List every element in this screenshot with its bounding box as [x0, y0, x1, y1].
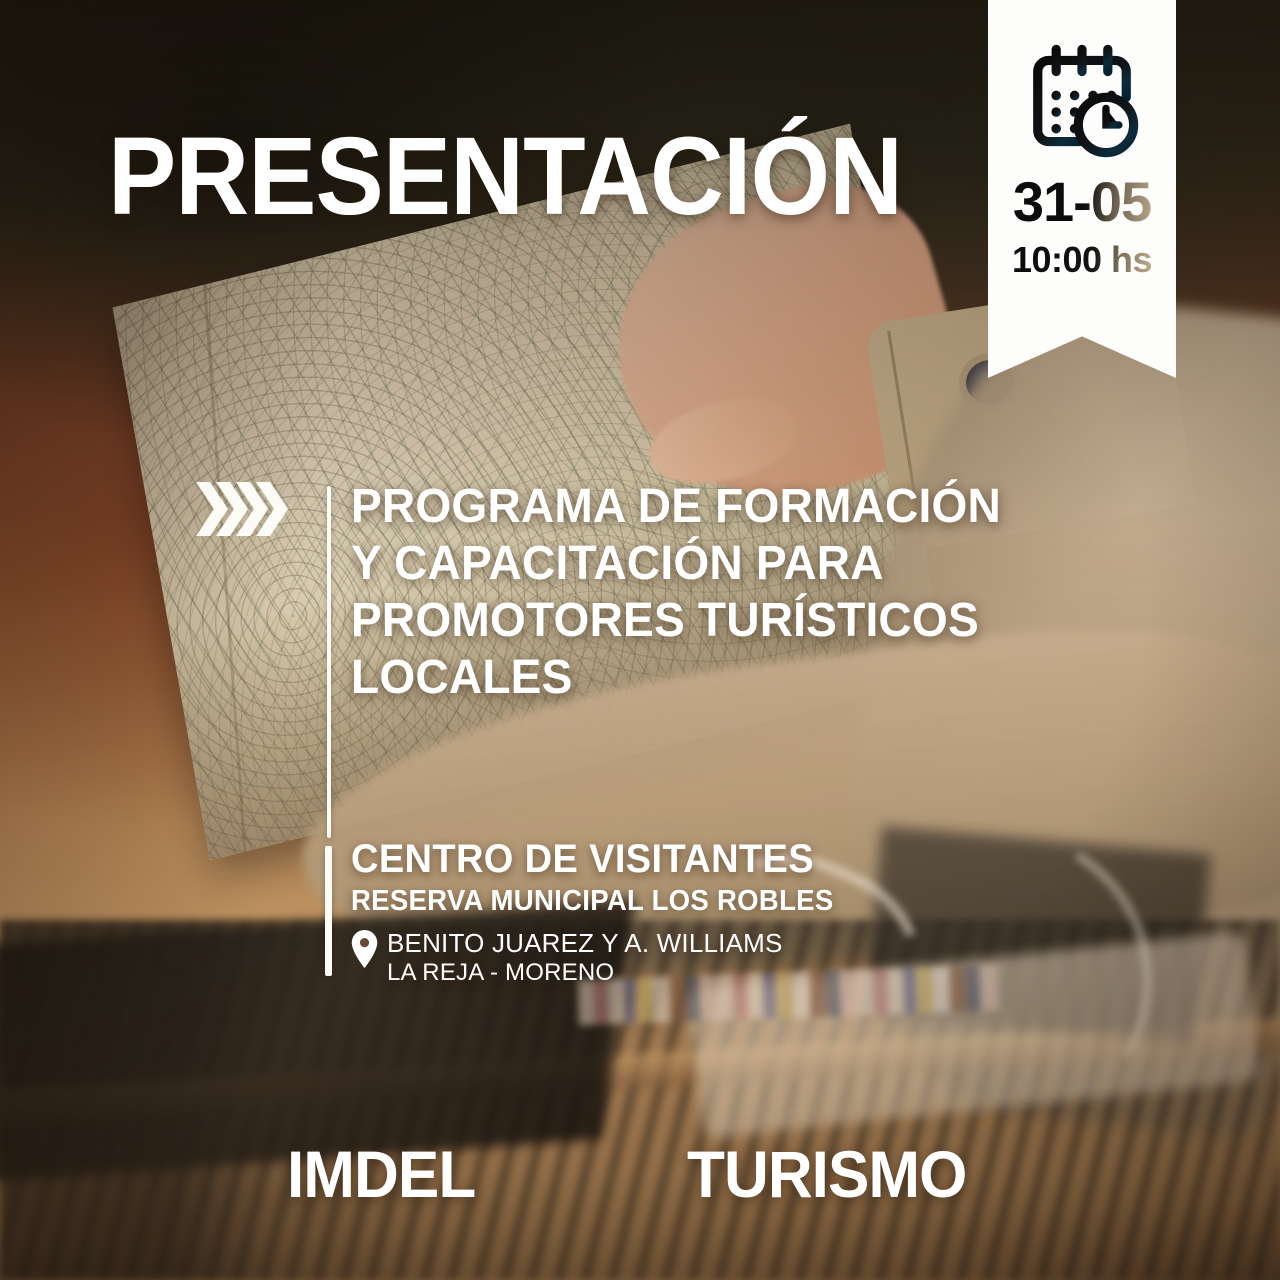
logo-turismo: TURISMO [687, 1136, 966, 1212]
headline-line-2: Y CAPACITACIÓN PARA [351, 535, 1061, 592]
venue-address: BENITO JUAREZ Y A. WILLIAMS LA REJA - MO… [351, 928, 991, 988]
venue-block: CENTRO DE VISITANTES RESERVA MUNICIPAL L… [351, 838, 991, 988]
vertical-divider-bottom [325, 846, 332, 976]
venue-subtitle: RESERVA MUNICIPAL LOS ROBLES [351, 884, 959, 918]
headline-block: PROGRAMA DE FORMACIÓN Y CAPACITACIÓN PAR… [351, 478, 1061, 706]
headline-line-1: PROGRAMA DE FORMACIÓN [351, 478, 1061, 535]
vertical-divider-top [327, 486, 331, 838]
badge-date: 31-05 [1013, 174, 1151, 230]
map-pin-icon [351, 930, 378, 968]
page-title: PRESENTACIÓN [108, 122, 902, 232]
double-chevron-right-icon [196, 478, 292, 540]
headline-line-3: PROMOTORES TURÍSTICOS [351, 592, 1061, 649]
event-flyer: PRESENTACIÓN [0, 0, 1280, 1280]
badge-time: 10:00 hs [1012, 242, 1152, 278]
calendar-clock-icon [1023, 42, 1141, 160]
address-line-2: LA REJA - MORENO [387, 959, 783, 988]
address-lines: BENITO JUAREZ Y A. WILLIAMS LA REJA - MO… [387, 928, 783, 988]
venue-name: CENTRO DE VISITANTES [351, 838, 959, 880]
address-line-1: BENITO JUAREZ Y A. WILLIAMS [387, 928, 783, 959]
logo-imdel: IMDEL [287, 1136, 475, 1212]
date-time-badge: 31-05 10:00 hs [988, 0, 1176, 378]
headline-line-4: LOCALES [351, 649, 1061, 706]
